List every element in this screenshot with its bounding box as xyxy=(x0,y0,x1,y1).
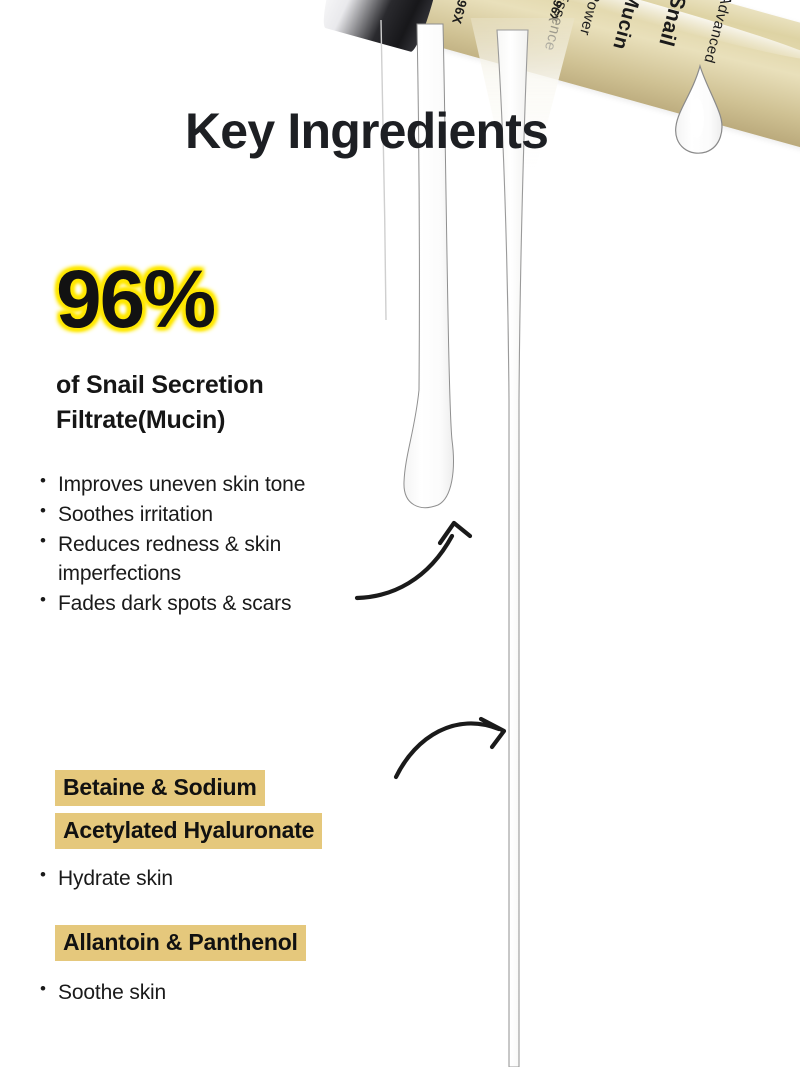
list-item: Soothe skin xyxy=(40,978,360,1008)
ingredient-heading-betaine: Betaine & Sodium Acetylated Hyaluronate xyxy=(55,770,322,856)
percent-subtitle-line1: of Snail Secretion xyxy=(56,371,264,399)
percent-value: 96 xyxy=(56,254,143,345)
mucin-benefit-list: Improves uneven skin tone Soothes irrita… xyxy=(40,470,380,619)
highlight-line: Betaine & Sodium xyxy=(55,770,265,806)
list-item-continuation: imperfections xyxy=(40,559,380,589)
stream-thin-left xyxy=(404,24,454,508)
percent-subtitle: of Snail Secretion Filtrate(Mucin) xyxy=(56,368,386,437)
allantoin-benefit-list: Soothe skin xyxy=(40,978,360,1008)
stream-main xyxy=(497,30,528,1067)
infographic-page: Advanced Snail Mucin Power Essence 96X 9… xyxy=(0,0,800,1067)
highlight-line: Acetylated Hyaluronate xyxy=(55,813,322,849)
page-title: Key Ingredients xyxy=(185,104,548,159)
highlight-line: Allantoin & Panthenol xyxy=(55,925,306,961)
ingredient-heading-allantoin: Allantoin & Panthenol xyxy=(55,925,306,968)
list-item: Hydrate skin xyxy=(40,864,360,894)
arrow-to-stream xyxy=(396,719,504,777)
betaine-benefit-list: Hydrate skin xyxy=(40,864,360,894)
percent-stat: 96% xyxy=(56,259,214,341)
list-item: Soothes irritation xyxy=(40,500,380,530)
list-item: Improves uneven skin tone xyxy=(40,470,380,500)
list-item: Fades dark spots & scars xyxy=(40,589,380,619)
percent-symbol: % xyxy=(143,254,214,345)
stream-thin-secondary xyxy=(381,20,386,320)
list-item: Reduces redness & skin xyxy=(40,530,380,560)
percent-subtitle-line2: Filtrate(Mucin) xyxy=(56,406,225,434)
droplet-right xyxy=(676,66,722,153)
